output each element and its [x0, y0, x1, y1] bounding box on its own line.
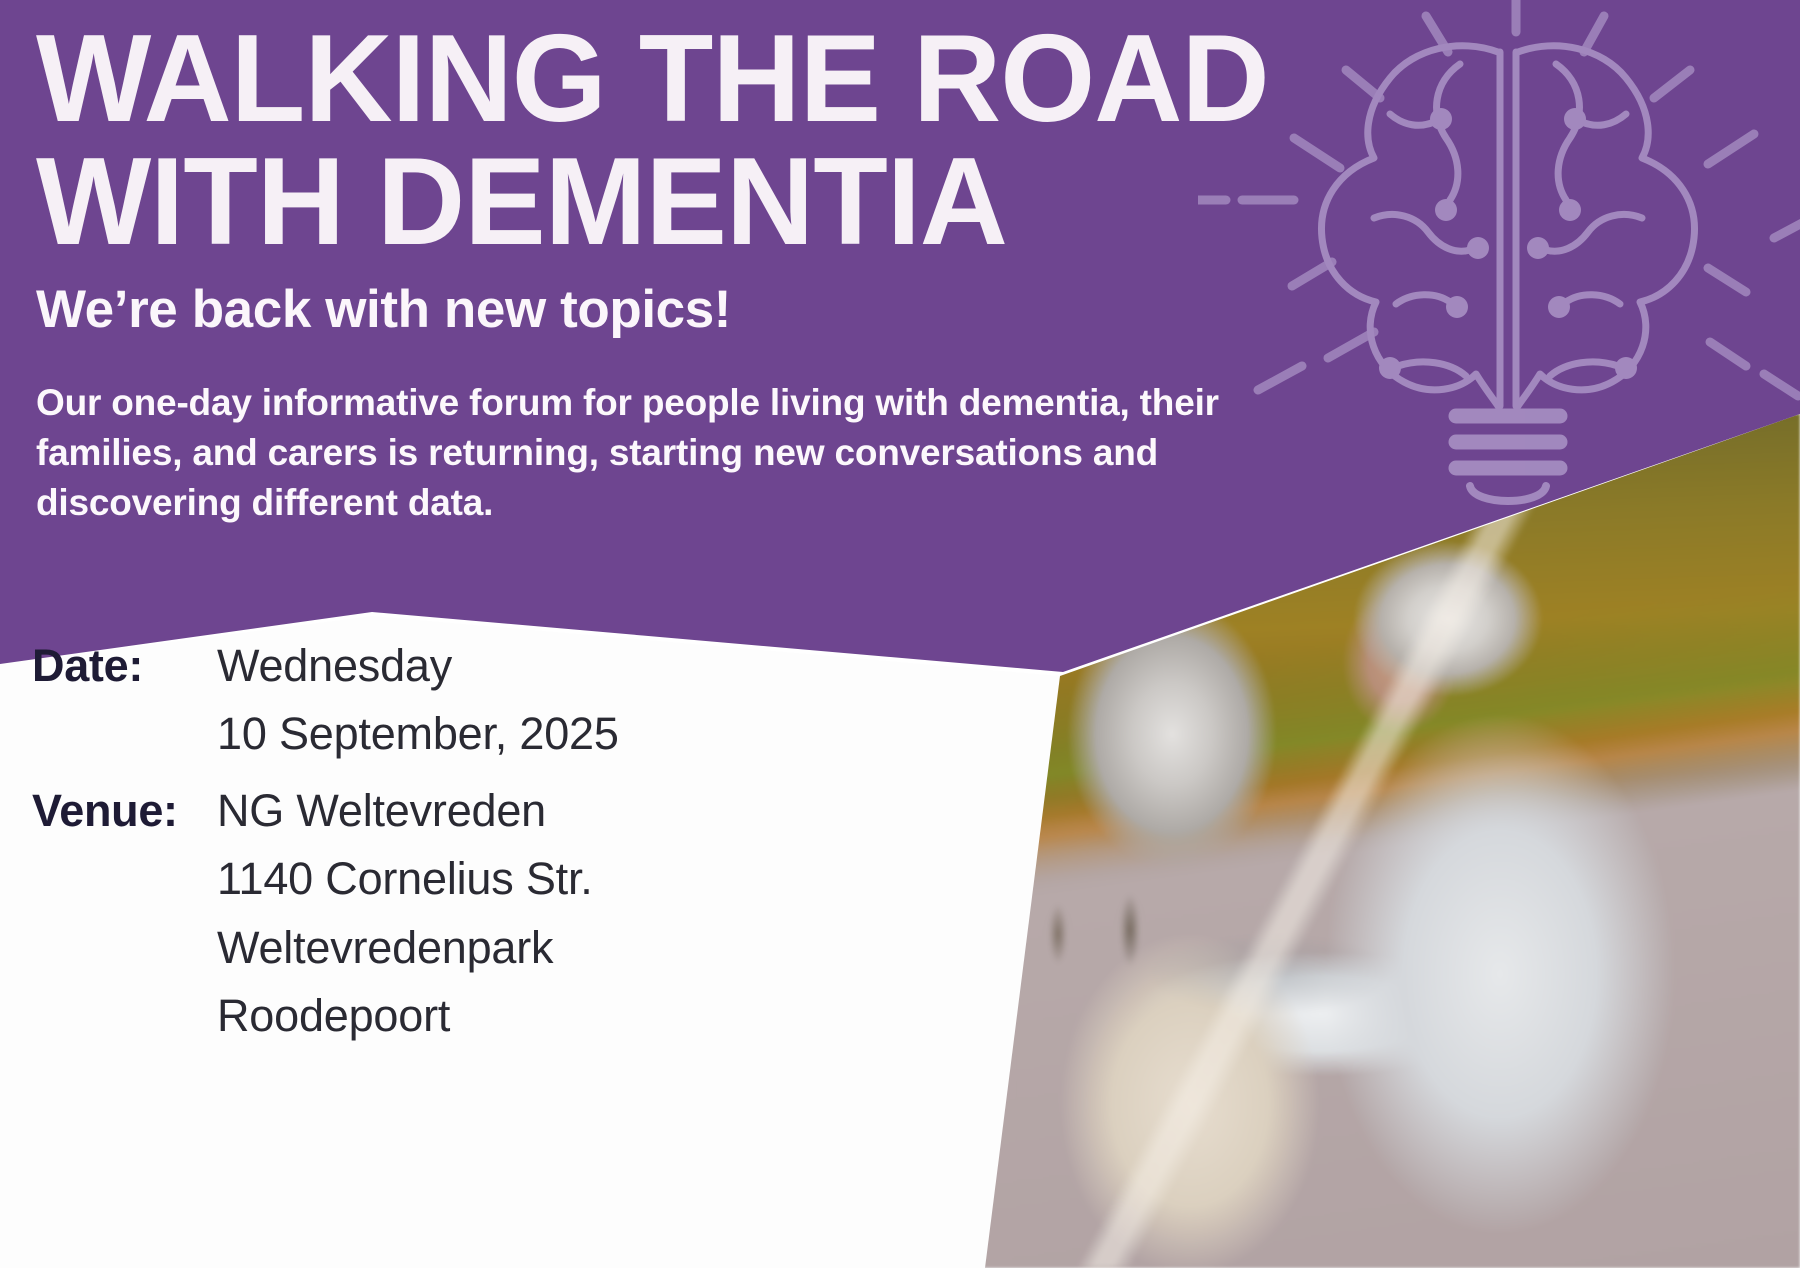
poster-canvas: WALKING THE ROAD WITH DEMENTIA We’re bac… [0, 0, 1800, 1268]
page-body-copy: Our one-day informative forum for people… [36, 378, 1356, 528]
date-values: Wednesday 10 September, 2025 [217, 632, 852, 769]
page-title: WALKING THE ROAD WITH DEMENTIA [36, 18, 1346, 264]
detail-row-date: Date: Wednesday 10 September, 2025 [32, 632, 852, 769]
venue-value-line: Weltevredenpark [217, 914, 852, 982]
date-value-line: 10 September, 2025 [217, 700, 852, 768]
date-label: Date: [32, 632, 217, 700]
venue-label: Venue: [32, 777, 217, 845]
venue-value-line: 1140 Cornelius Str. [217, 845, 852, 913]
event-details: Date: Wednesday 10 September, 2025 Venue… [32, 632, 852, 1058]
venue-value-line: Roodepoort [217, 982, 852, 1050]
detail-row-venue: Venue: NG Weltevreden 1140 Cornelius Str… [32, 777, 852, 1051]
venue-values: NG Weltevreden 1140 Cornelius Str. Welte… [217, 777, 852, 1051]
date-value-line: Wednesday [217, 632, 852, 700]
venue-value-line: NG Weltevreden [217, 777, 852, 845]
page-subtitle: We’re back with new topics! [36, 282, 731, 338]
